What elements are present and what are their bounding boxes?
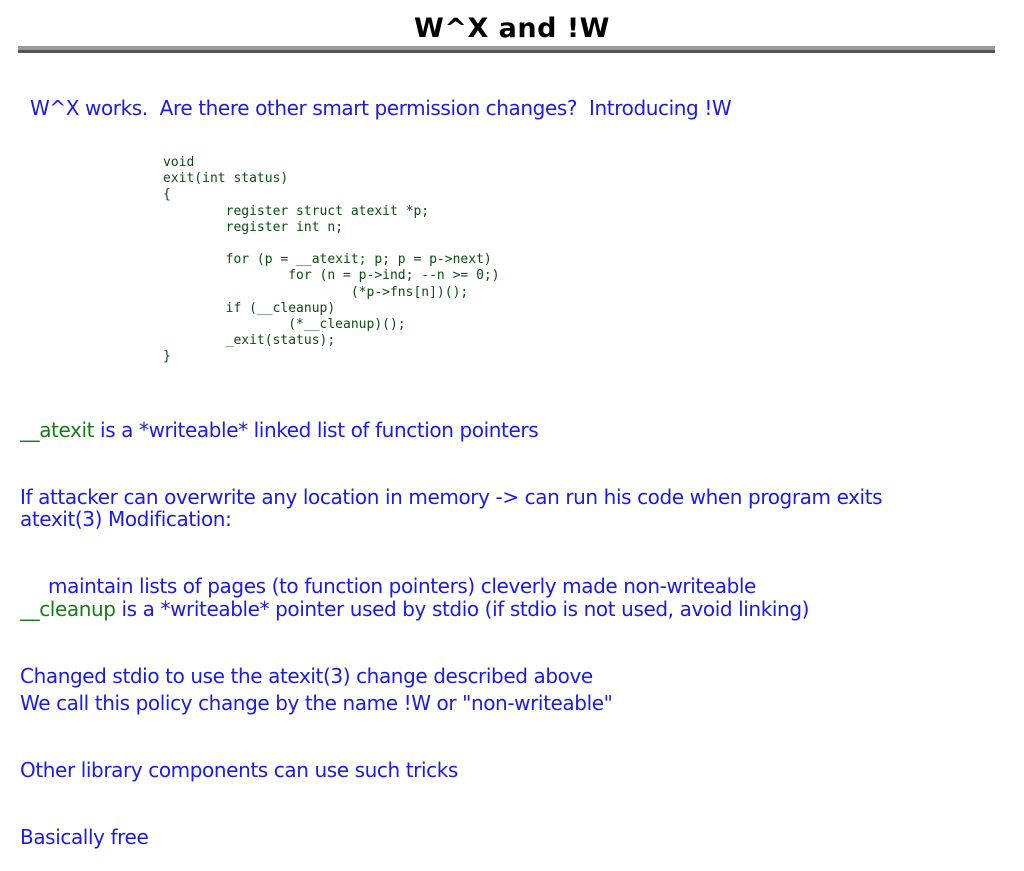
paragraph-policy: We call this policy change by the name !…: [20, 651, 612, 871]
page-title: W^X and !W: [0, 14, 1024, 44]
cleanup-keyword: __cleanup: [20, 597, 116, 621]
policy-line-3-highlight: Basically free: [20, 823, 612, 852]
modification-heading: atexit(3) Modification:: [20, 505, 756, 534]
policy-line-1: We call this policy change by the name !…: [20, 689, 612, 718]
slide-root: { "slide": { "title": "W^X and !W", "int…: [0, 0, 1024, 768]
cleanup-line-1: __cleanup is a *writeable* pointer used …: [20, 595, 809, 624]
intro-text: W^X works. Are there other smart permiss…: [30, 96, 731, 120]
atexit-line-1: __atexit is a *writeable* linked list of…: [20, 416, 882, 445]
cleanup-line-1-rest: is a *writeable* pointer used by stdio (…: [116, 597, 809, 621]
policy-line-2: Other library components can use such tr…: [20, 756, 612, 785]
atexit-keyword: __atexit: [20, 418, 94, 442]
code-listing: void exit(int status) { register struct …: [163, 155, 500, 366]
title-divider: [18, 46, 995, 53]
atexit-line-1-rest: is a *writeable* linked list of function…: [94, 418, 538, 442]
